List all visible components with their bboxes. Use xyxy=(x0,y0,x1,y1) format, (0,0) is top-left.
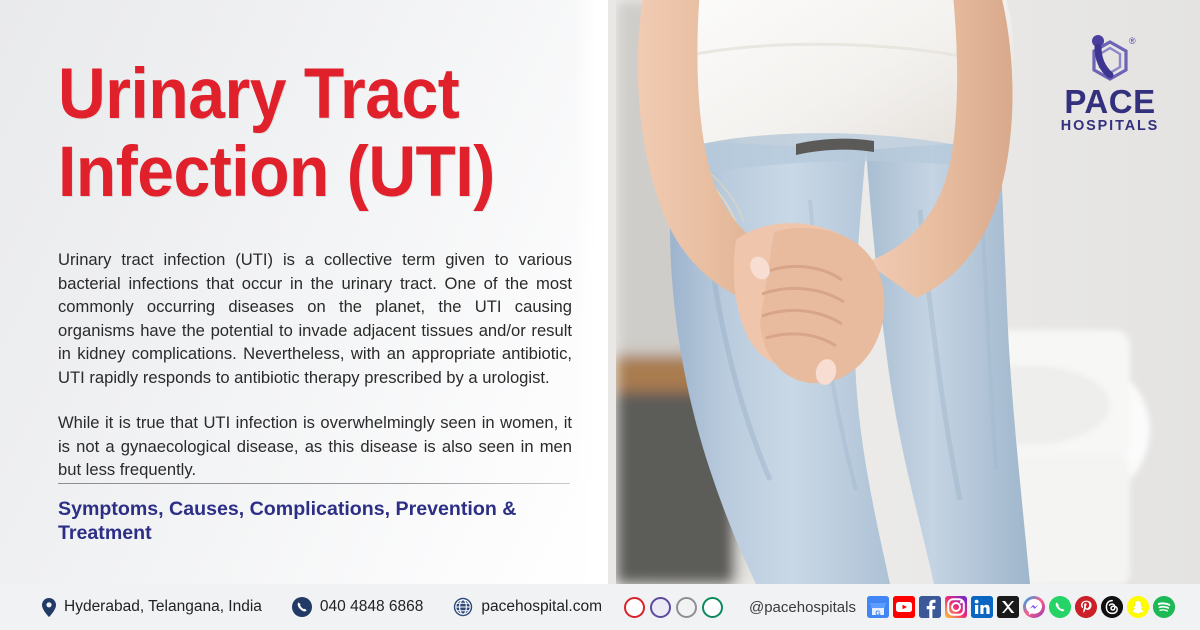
social-icons: G xyxy=(867,596,1175,618)
messenger-icon[interactable] xyxy=(1023,596,1045,618)
logo-hexagon-icon: ® xyxy=(1050,34,1170,84)
title-line-2: Infection (UTI) xyxy=(58,134,551,212)
infographic-canvas: Urinary Tract Infection (UTI) Urinary tr… xyxy=(0,0,1200,630)
website-label: pacehospital.com xyxy=(481,598,602,616)
location-label: Hyderabad, Telangana, India xyxy=(64,598,262,616)
whatsapp-icon[interactable] xyxy=(1049,596,1071,618)
footer-website[interactable]: pacehospital.com xyxy=(453,597,602,617)
nabl-badge xyxy=(650,597,671,618)
logo-wordmark: PACE xyxy=(1050,86,1170,118)
subheading: Symptoms, Causes, Complications, Prevent… xyxy=(58,497,578,545)
svg-text:G: G xyxy=(875,611,881,618)
globe-icon xyxy=(453,597,473,617)
nabh-badge xyxy=(624,597,645,618)
facebook-icon[interactable] xyxy=(919,596,941,618)
snapchat-icon[interactable] xyxy=(1127,596,1149,618)
youtube-icon[interactable] xyxy=(893,596,915,618)
jci-badge xyxy=(676,597,697,618)
google-business-icon[interactable]: G xyxy=(867,596,889,618)
linkedin-icon[interactable] xyxy=(971,596,993,618)
svg-text:®: ® xyxy=(1129,36,1136,46)
instagram-icon[interactable] xyxy=(945,596,967,618)
page-title: Urinary Tract Infection (UTI) xyxy=(58,56,551,212)
phone-icon xyxy=(292,597,312,617)
section-divider xyxy=(58,483,570,484)
spotify-icon[interactable] xyxy=(1153,596,1175,618)
intro-paragraph-2: While it is true that UTI infection is o… xyxy=(58,411,572,482)
social-handle: @pacehospitals xyxy=(749,599,856,616)
footer-location: Hyderabad, Telangana, India xyxy=(42,598,262,617)
x-twitter-icon[interactable] xyxy=(997,596,1019,618)
footer-bar: Hyderabad, Telangana, India 040 4848 686… xyxy=(0,584,1200,630)
logo-tagline: HOSPITALS xyxy=(1050,118,1170,134)
footer-phone[interactable]: 040 4848 6868 xyxy=(292,597,423,617)
title-line-1: Urinary Tract xyxy=(58,56,551,134)
pinterest-icon[interactable] xyxy=(1075,596,1097,618)
accreditation-badges xyxy=(624,597,723,618)
intro-paragraph-1: Urinary tract infection (UTI) is a colle… xyxy=(58,248,572,390)
iso-badge xyxy=(702,597,723,618)
phone-label: 040 4848 6868 xyxy=(320,598,423,616)
pace-hospitals-logo: ® PACE HOSPITALS xyxy=(1050,34,1170,134)
location-pin-icon xyxy=(42,598,56,617)
threads-icon[interactable] xyxy=(1101,596,1123,618)
